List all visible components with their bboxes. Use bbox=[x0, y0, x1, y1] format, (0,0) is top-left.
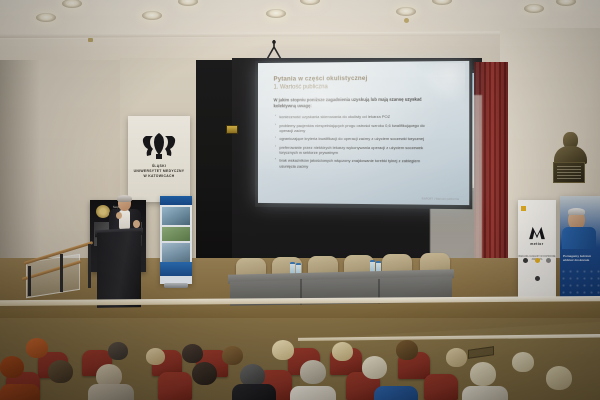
audience-head bbox=[192, 362, 217, 385]
audience-shoulders bbox=[0, 384, 40, 400]
banner-portrait-line-2: widzieć doskonale bbox=[563, 258, 591, 262]
projection-screen: Pytania w części okulistycznej 1. Wartoś… bbox=[258, 61, 469, 205]
banner-photo bbox=[162, 207, 190, 225]
audience-head bbox=[470, 362, 496, 386]
wall-switch-icon[interactable] bbox=[226, 125, 238, 134]
bust-plaque bbox=[553, 162, 585, 183]
banner-stand bbox=[164, 283, 188, 288]
banner-corner-square-icon bbox=[521, 206, 526, 211]
audience-shoulders bbox=[374, 386, 418, 400]
audience-shoulders bbox=[290, 386, 336, 400]
social-dot-icon bbox=[535, 258, 540, 263]
banner-university-text: ŚLĄSKI UNIWERSYTET MEDYCZNY W KATOWICACH bbox=[128, 164, 190, 179]
handrail-post bbox=[60, 254, 63, 292]
audience-shoulders bbox=[232, 384, 276, 400]
audience-head bbox=[396, 340, 418, 360]
downlight bbox=[142, 11, 162, 20]
banner-metior-name: metior bbox=[518, 242, 556, 246]
wall-left-shadow bbox=[0, 60, 40, 260]
speaker-hand bbox=[133, 220, 140, 228]
audience-head bbox=[512, 352, 534, 372]
audience-head bbox=[48, 360, 73, 383]
audience-head bbox=[222, 346, 243, 365]
banner-portrait-body bbox=[562, 227, 596, 249]
audience-head bbox=[446, 348, 467, 367]
ceiling-sensor bbox=[404, 18, 409, 23]
downlight bbox=[396, 7, 416, 16]
speaker-hand bbox=[116, 212, 122, 219]
banner-blue-header bbox=[160, 196, 192, 205]
audience-head bbox=[332, 342, 353, 361]
audience-head bbox=[182, 344, 203, 363]
handrail-post bbox=[28, 266, 31, 296]
banner-portrait-blue: Pomagamy ludziom widzieć doskonale bbox=[560, 196, 600, 308]
banner-line-3: W KATOWICACH bbox=[128, 174, 190, 179]
audience-head bbox=[300, 360, 326, 384]
audience-head bbox=[272, 340, 294, 360]
audience-head bbox=[0, 356, 24, 378]
bronze-bust bbox=[552, 132, 588, 178]
banner-metior: metior BADANIA I ANALIZY W OCHRONIE ZDRO… bbox=[518, 200, 556, 308]
banner-metior-dots bbox=[518, 250, 556, 286]
speaker-hair bbox=[117, 195, 132, 202]
banner-blue-footer bbox=[160, 262, 192, 276]
audience-shoulders bbox=[88, 384, 134, 400]
audience-head bbox=[546, 366, 572, 390]
downlight bbox=[266, 9, 286, 18]
bust-plaque-text bbox=[557, 166, 581, 179]
social-dot-icon bbox=[535, 276, 540, 281]
downlight bbox=[524, 4, 544, 13]
banner-photo bbox=[162, 227, 190, 241]
social-dot-icon bbox=[546, 258, 551, 263]
banner-university: ŚLĄSKI UNIWERSYTET MEDYCZNY W KATOWICACH bbox=[128, 116, 190, 202]
social-dot-icon bbox=[523, 258, 528, 263]
banner-portrait-hair bbox=[568, 208, 585, 215]
handrail-post bbox=[88, 244, 91, 288]
ceiling-sensor bbox=[88, 38, 93, 42]
audience-head bbox=[146, 348, 165, 365]
banner-blue-campus bbox=[160, 196, 192, 284]
metior-logo-icon bbox=[528, 226, 546, 240]
audience-head bbox=[26, 338, 48, 358]
conference-hall-photo: Pytania w części okulistycznej 1. Wartoś… bbox=[0, 0, 600, 400]
audience-head bbox=[362, 356, 387, 379]
banner-portrait-text: Pomagamy ludziom widzieć doskonale bbox=[563, 254, 591, 263]
audience-seat bbox=[424, 374, 458, 400]
audience-shoulders bbox=[462, 386, 508, 400]
audience-seat bbox=[158, 372, 192, 400]
downlight bbox=[36, 13, 56, 22]
coat-of-arms-icon bbox=[137, 130, 181, 162]
audience-head bbox=[108, 342, 128, 360]
screen-glare bbox=[258, 61, 469, 205]
